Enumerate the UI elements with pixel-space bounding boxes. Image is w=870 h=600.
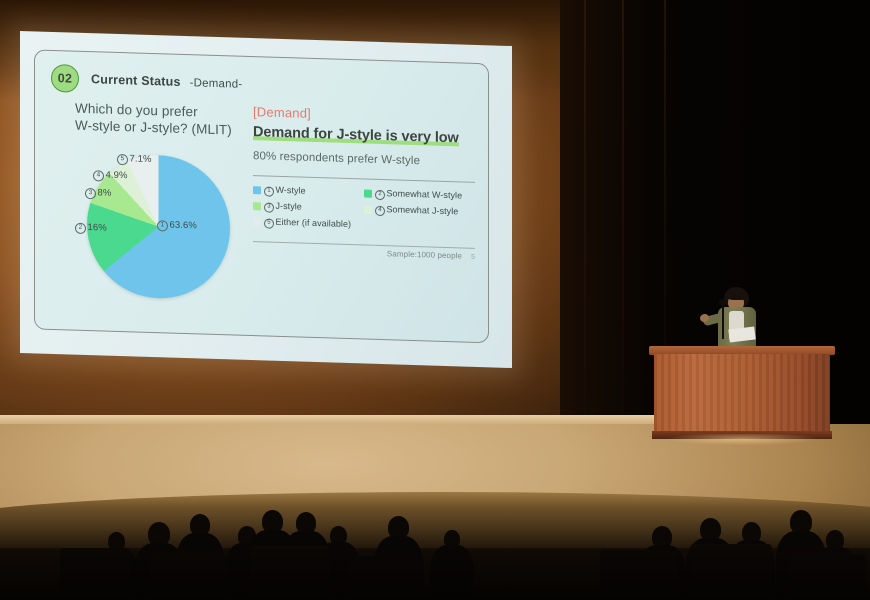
legend-item-j-style: 3J-style xyxy=(253,200,364,215)
chart-question-text: Which do you preferW-style or J-style? (… xyxy=(75,101,232,138)
legend-item-either-if-available: 5Either (if available) xyxy=(253,216,364,231)
legend-swatch-2 xyxy=(364,190,372,198)
pie-value-2: 16% xyxy=(88,222,107,234)
wooden-podium xyxy=(652,346,832,440)
legend-marker-5: 5 xyxy=(264,218,274,228)
pie-value-4: 4.9% xyxy=(106,170,128,182)
podium-floor-glow xyxy=(636,434,848,450)
sample-size-note: Sample:1000 people xyxy=(387,249,462,260)
pie-marker-2: 2 xyxy=(75,223,86,234)
legend-item-somewhat-j-style: 4Somewhat J-style xyxy=(364,204,475,219)
speaker-person xyxy=(700,287,770,349)
pie-label-3: 38% xyxy=(85,187,111,200)
demand-headline: Demand for J-style is very low xyxy=(253,124,459,146)
legend-row: 3J-style4Somewhat J-style xyxy=(253,200,475,219)
pie-label-1: 163.6% xyxy=(157,219,197,232)
demand-tag: [Demand] xyxy=(253,104,475,126)
demand-subline: 80% respondents prefer W-style xyxy=(253,150,475,169)
legend-swatch-5 xyxy=(253,218,261,226)
legend-row: 5Either (if available) xyxy=(253,216,475,235)
pie-label-4: 44.9% xyxy=(93,169,128,182)
slide-title: Current Status xyxy=(91,72,181,89)
pie-marker-4: 4 xyxy=(93,170,104,181)
legend-item-somewhat-w-style: 2Somewhat W-style xyxy=(364,188,475,203)
pie-value-3: 8% xyxy=(98,187,112,198)
legend-marker-1: 1 xyxy=(264,186,274,196)
pie-marker-5: 5 xyxy=(117,154,128,165)
legend-label-1: 1W-style xyxy=(264,184,306,197)
presentation-slide: 02 Current Status -Demand- Which do you … xyxy=(34,49,489,343)
audience-foreground-dark xyxy=(0,548,870,600)
pie-label-2: 216% xyxy=(75,222,107,235)
slide-header: 02 Current Status -Demand- xyxy=(51,64,242,98)
section-number-badge: 02 xyxy=(51,64,79,93)
conference-hall-photo: 02 Current Status -Demand- Which do you … xyxy=(0,0,870,600)
legend-label-2: 2Somewhat W-style xyxy=(375,188,462,203)
pie-value-1: 63.6% xyxy=(170,220,197,232)
legend-swatch-1 xyxy=(253,186,261,194)
pie-value-5: 7.1% xyxy=(130,153,152,165)
speaker-hair-front xyxy=(726,289,748,300)
chart-legend: 1W-style2Somewhat W-style3J-style4Somewh… xyxy=(253,184,475,235)
legend-label-3: 3J-style xyxy=(264,200,302,213)
pie-chart: 163.6% 216% 38% 44.9% 57.1% xyxy=(65,144,235,319)
microphone-icon xyxy=(719,299,726,306)
legend-swatch-4 xyxy=(364,206,372,214)
pie-marker-3: 3 xyxy=(85,188,96,199)
microphone-stand xyxy=(722,303,724,339)
legend-item-w-style: 1W-style xyxy=(253,184,364,199)
pie-marker-1: 1 xyxy=(157,220,168,231)
legend-marker-4: 4 xyxy=(375,206,385,216)
slide-subtitle: -Demand- xyxy=(190,77,243,91)
demand-headline-wrap: Demand for J-style is very low xyxy=(253,124,459,146)
legend-label-4: 4Somewhat J-style xyxy=(375,204,458,219)
projection-screen: 02 Current Status -Demand- Which do you … xyxy=(20,31,512,368)
legend-marker-2: 2 xyxy=(375,190,385,200)
pie-label-5: 57.1% xyxy=(117,153,152,166)
legend-swatch-3 xyxy=(253,202,261,210)
legend-marker-3: 3 xyxy=(264,202,274,212)
podium-body xyxy=(654,354,830,432)
panel-divider xyxy=(253,175,475,183)
demand-panel: [Demand] Demand for J-style is very low … xyxy=(253,104,475,261)
legend-label-5: 5Either (if available) xyxy=(264,216,351,231)
slide-page-number: 5 xyxy=(471,254,475,261)
legend-row: 1W-style2Somewhat W-style xyxy=(253,184,475,203)
